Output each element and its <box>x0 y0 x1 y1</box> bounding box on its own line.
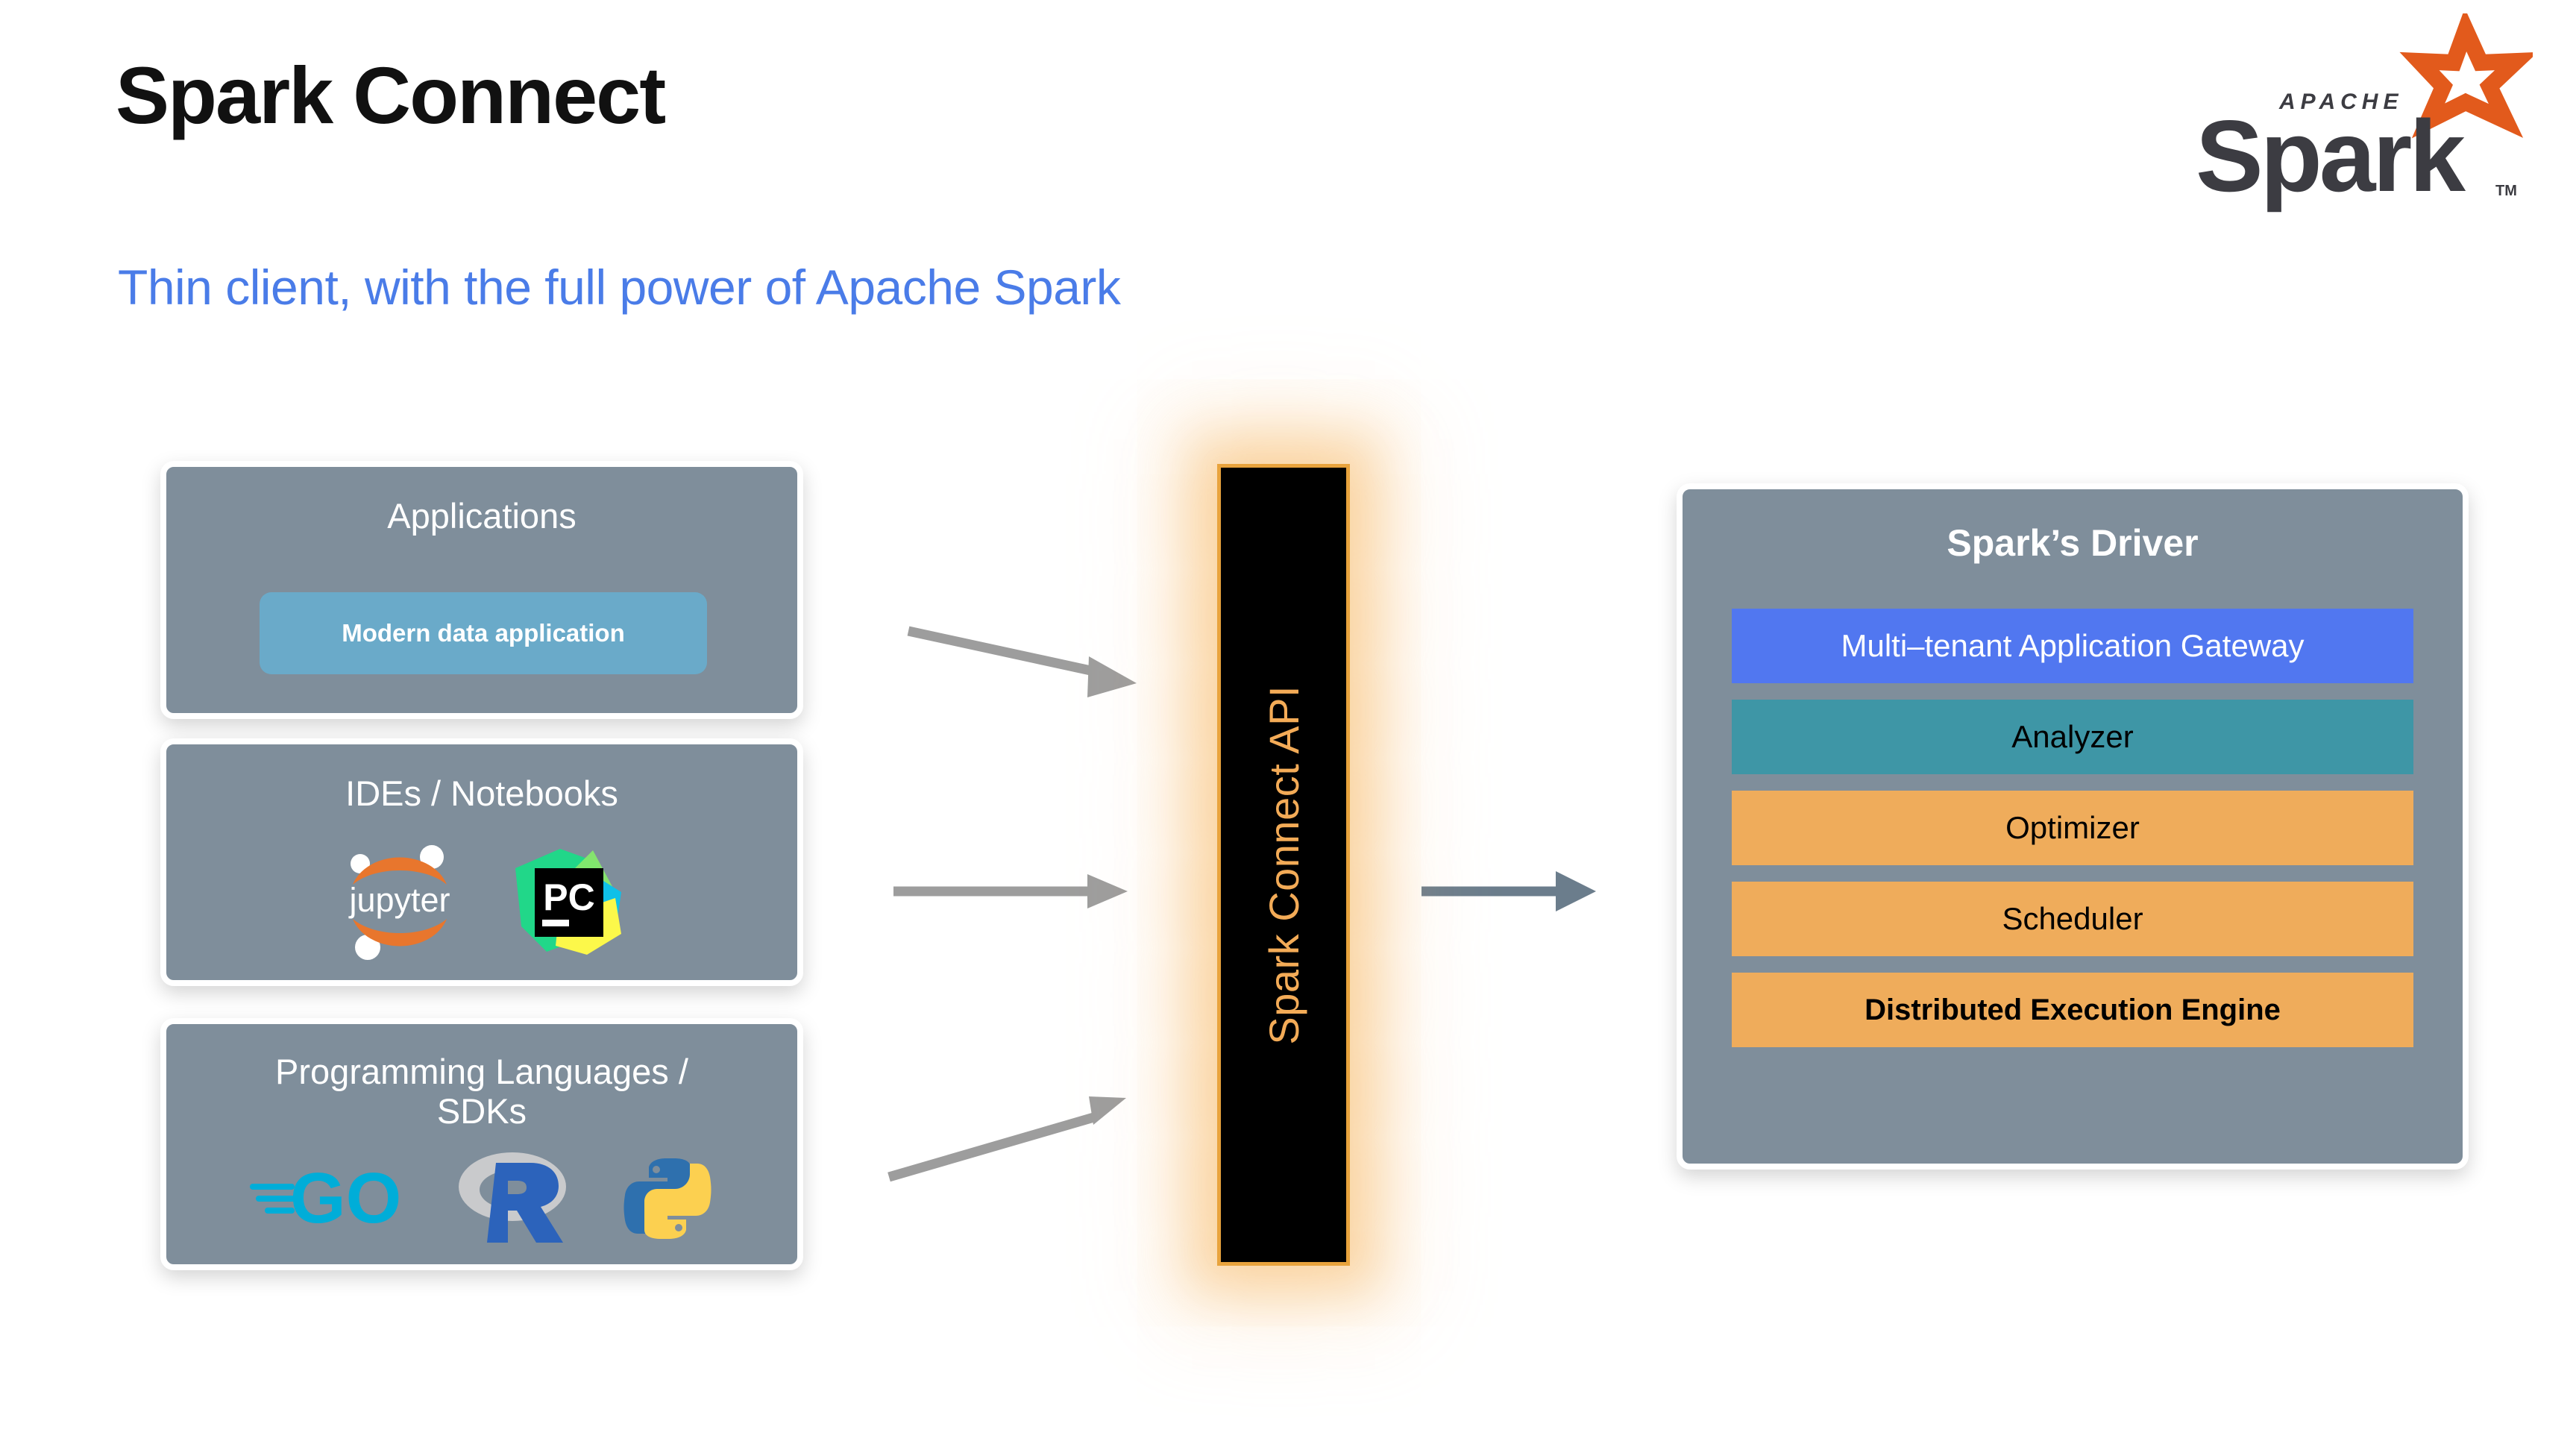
panel-sparks-driver[interactable]: Spark’s Driver Multi–tenant Application … <box>1677 483 2469 1170</box>
svg-text:TM: TM <box>2495 183 2517 199</box>
pycharm-logo: PC <box>509 843 627 964</box>
panel-applications[interactable]: Applications Modern data application <box>160 461 803 719</box>
panel-langs-title-line1: Programming Languages / <box>275 1052 688 1091</box>
driver-layer-label: Analyzer <box>2011 719 2133 755</box>
svg-text:jupyter: jupyter <box>348 881 450 919</box>
r-logo <box>453 1148 572 1252</box>
driver-layer-stack: Multi–tenant Application Gateway Analyze… <box>1732 609 2413 1047</box>
panel-ides-notebooks-title: IDEs / Notebooks <box>166 774 797 814</box>
slide-root: Spark Connect Thin client, with the full… <box>0 0 2576 1447</box>
page-title: Spark Connect <box>116 55 665 136</box>
panel-applications-title: Applications <box>166 497 797 536</box>
arrow-ides-to-api <box>893 874 1128 908</box>
arrow-api-to-driver <box>1421 871 1596 911</box>
chip-modern-data-application-label: Modern data application <box>342 619 625 647</box>
spark-connect-api-label: Spark Connect API <box>1260 685 1308 1045</box>
driver-layer-label: Multi–tenant Application Gateway <box>1841 628 2304 664</box>
driver-layer-multi-tenant-application-gateway[interactable]: Multi–tenant Application Gateway <box>1732 609 2413 683</box>
driver-layer-optimizer[interactable]: Optimizer <box>1732 791 2413 865</box>
svg-text:Spark: Spark <box>2196 99 2466 213</box>
panel-langs-title-line2: SDKs <box>437 1091 527 1131</box>
chip-modern-data-application[interactable]: Modern data application <box>260 592 707 674</box>
svg-text:PC: PC <box>543 876 594 918</box>
driver-layer-distributed-execution-engine[interactable]: Distributed Execution Engine <box>1732 973 2413 1047</box>
driver-layer-label: Distributed Execution Engine <box>1865 994 2281 1027</box>
svg-text:GO: GO <box>290 1158 401 1238</box>
panel-ides-notebooks[interactable]: IDEs / Notebooks jupyter <box>160 738 803 986</box>
jupyter-logo: jupyter <box>336 838 463 969</box>
arrow-languages-to-api <box>889 1096 1126 1177</box>
python-logo <box>620 1151 715 1250</box>
driver-layer-label: Optimizer <box>2005 810 2140 846</box>
languages-logo-row: GO <box>166 1148 797 1252</box>
spark-connect-api-bar[interactable]: Spark Connect API <box>1217 464 1350 1266</box>
panel-programming-languages-sdks[interactable]: Programming Languages / SDKs GO <box>160 1018 803 1270</box>
go-logo: GO <box>248 1154 405 1247</box>
panel-sparks-driver-title: Spark’s Driver <box>1683 522 2463 564</box>
apache-spark-logo: APACHE Spark TM <box>2182 13 2533 215</box>
driver-layer-scheduler[interactable]: Scheduler <box>1732 882 2413 956</box>
page-subtitle: Thin client, with the full power of Apac… <box>118 263 1120 312</box>
driver-layer-label: Scheduler <box>2002 901 2143 937</box>
ides-logo-row: jupyter PC <box>166 838 797 969</box>
driver-layer-analyzer[interactable]: Analyzer <box>1732 700 2413 774</box>
panel-programming-languages-sdks-title: Programming Languages / SDKs <box>166 1052 797 1131</box>
arrow-applications-to-api <box>908 631 1137 697</box>
